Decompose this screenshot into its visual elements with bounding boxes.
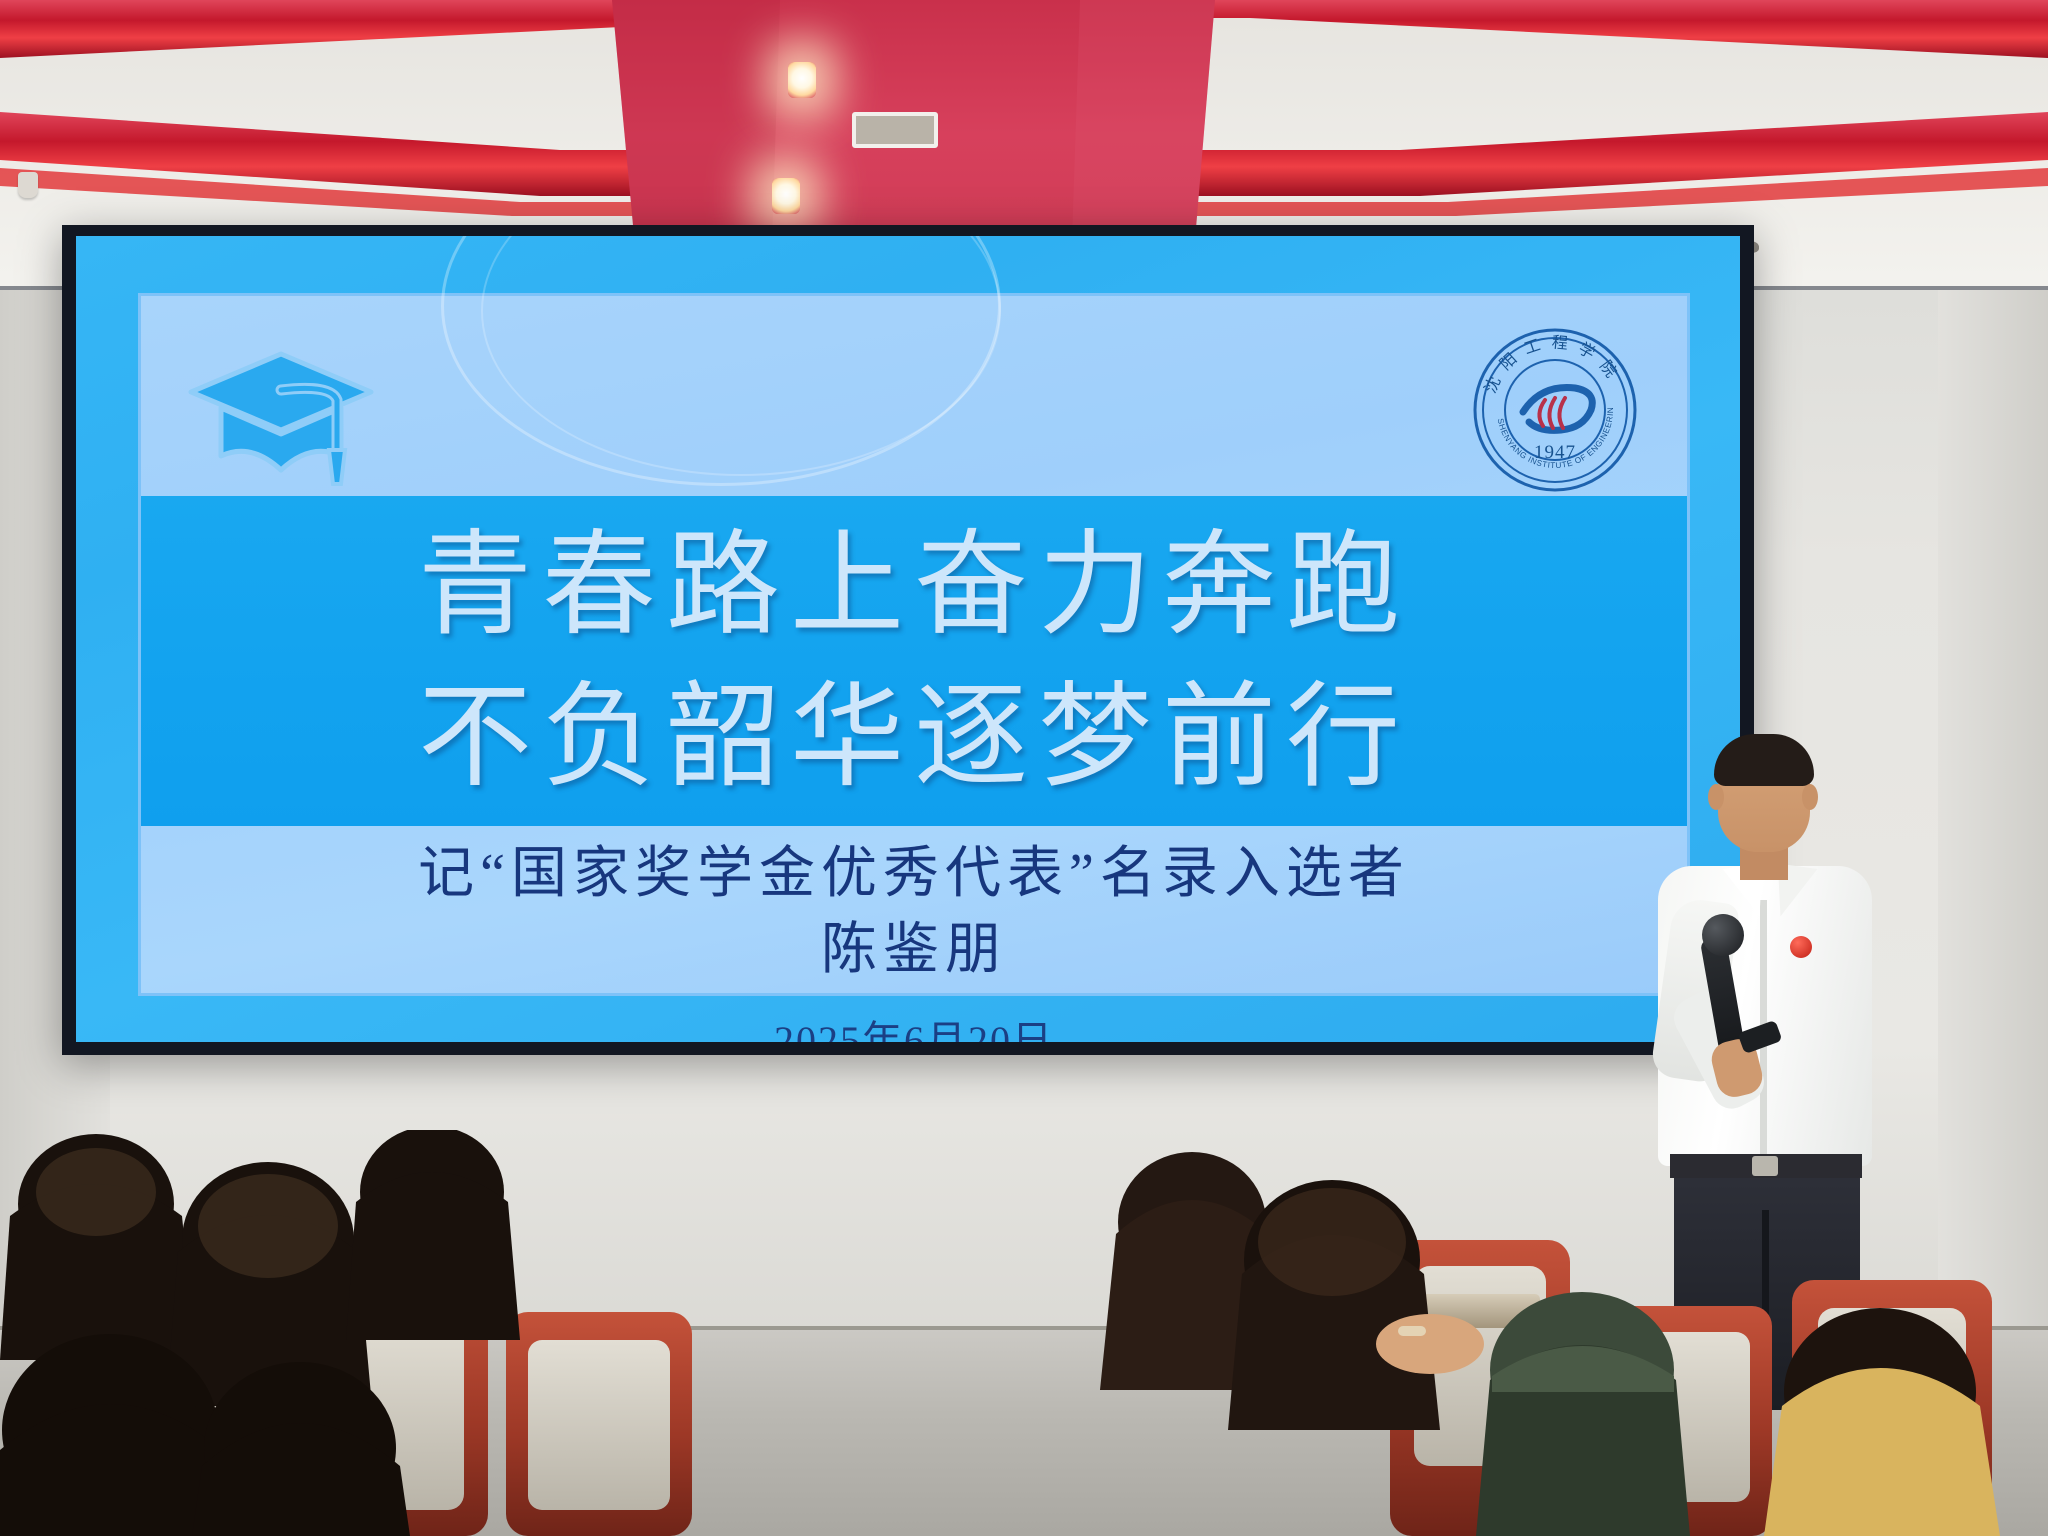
audience-area xyxy=(0,1130,2048,1536)
svg-text:1947: 1947 xyxy=(1534,442,1576,463)
slide-title-line-1: 青春路上奋力奔跑 xyxy=(141,510,1687,662)
ceiling-downlight xyxy=(772,178,800,214)
slide-subtitle: 记“国家奖学金优秀代表”名录入选者 xyxy=(141,836,1687,912)
slide-title-line-2: 不负韶华逐梦前行 xyxy=(141,662,1687,814)
lecture-hall-photo: 沈 阳 工 程 学 院 SHENYANG INSTITUTE OF ENGINE… xyxy=(0,0,2048,1536)
projection-screen-frame: 沈 阳 工 程 学 院 SHENYANG INSTITUTE OF ENGINE… xyxy=(62,225,1754,1055)
presenter-lapel-badge xyxy=(1790,936,1812,958)
university-seal-logo: 沈 阳 工 程 学 院 SHENYANG INSTITUTE OF ENGINE… xyxy=(1471,326,1639,494)
air-vent-icon xyxy=(852,112,938,148)
graduation-cap-icon xyxy=(181,338,381,488)
presenter-ear-left xyxy=(1708,784,1724,810)
presenter-hair xyxy=(1714,734,1814,786)
slide-presenter-name: 陈鉴朋 xyxy=(141,912,1687,988)
slide-inner-panel: 沈 阳 工 程 学 院 SHENYANG INSTITUTE OF ENGINE… xyxy=(138,293,1690,996)
slide-title-band: 青春路上奋力奔跑 不负韶华逐梦前行 xyxy=(141,496,1687,826)
projected-slide: 沈 阳 工 程 学 院 SHENYANG INSTITUTE OF ENGINE… xyxy=(76,236,1740,1042)
slide-subtitle-block: 记“国家奖学金优秀代表”名录入选者 陈鉴朋 xyxy=(141,836,1687,988)
presenter-ear-right xyxy=(1802,784,1818,810)
ceiling-downlight xyxy=(788,62,816,98)
smoke-detector-icon xyxy=(18,172,38,198)
slide-date: 2025年6月20日 xyxy=(141,1008,1687,1042)
